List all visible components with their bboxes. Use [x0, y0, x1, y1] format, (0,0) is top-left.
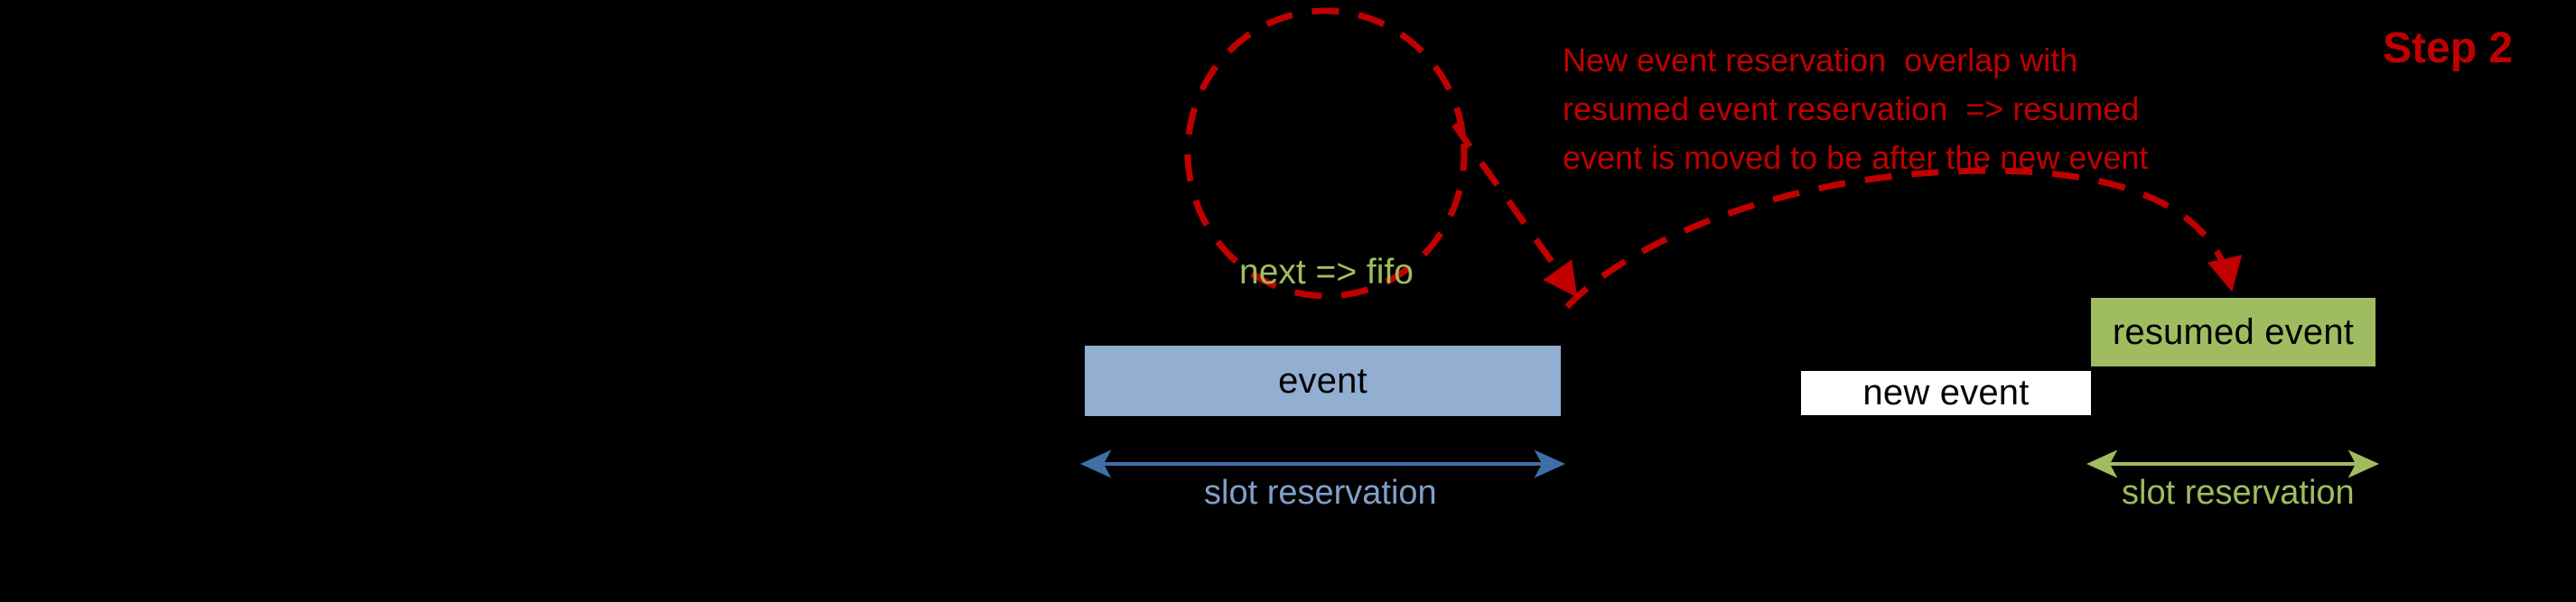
page-title: Step 2 — [2383, 23, 2513, 73]
event-box[interactable]: event — [1085, 346, 1561, 416]
annotation-note: New event reservation overlap with resum… — [1563, 36, 2148, 182]
new-event-box-label: new event — [1862, 373, 2029, 413]
diagram-canvas: event new event resumed event next => fi… — [0, 0, 2576, 602]
slot-reservation-right-label: slot reservation — [2122, 474, 2355, 513]
curved-dashed-arrow-icon — [1567, 171, 2231, 307]
resumed-event-box[interactable]: resumed event — [2091, 298, 2375, 366]
callout-arrow-icon — [1454, 125, 1574, 293]
next-fifo-label: next => fifo — [1239, 253, 1414, 292]
new-event-box[interactable]: new event — [1801, 371, 2091, 415]
slot-reservation-left-label: slot reservation — [1204, 474, 1437, 513]
event-box-label: event — [1278, 361, 1367, 402]
resumed-event-box-label: resumed event — [2113, 312, 2354, 353]
